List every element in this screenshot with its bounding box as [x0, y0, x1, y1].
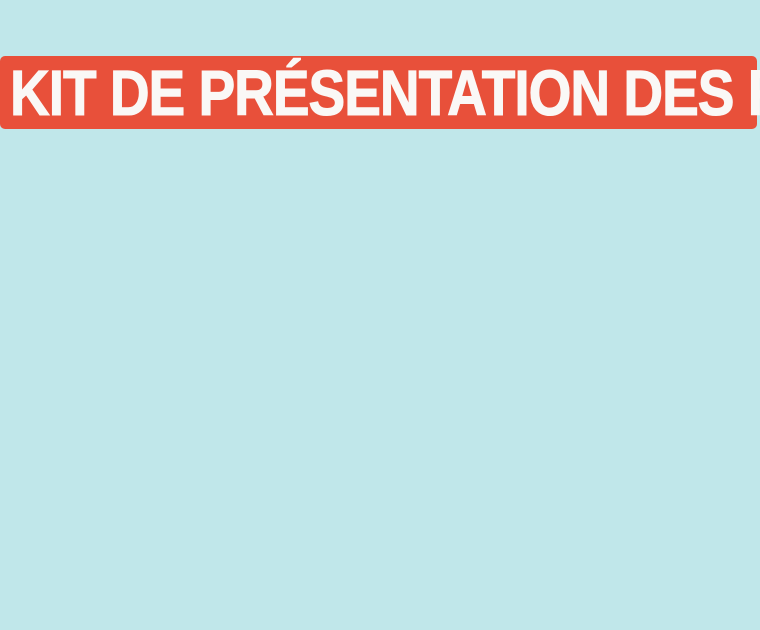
slide-body-area	[0, 129, 760, 630]
slide-canvas: KIT DE PRÉSENTATION DES RU	[0, 0, 760, 630]
title-banner: KIT DE PRÉSENTATION DES RU	[0, 56, 757, 129]
slide-title: KIT DE PRÉSENTATION DES RU	[10, 61, 760, 125]
